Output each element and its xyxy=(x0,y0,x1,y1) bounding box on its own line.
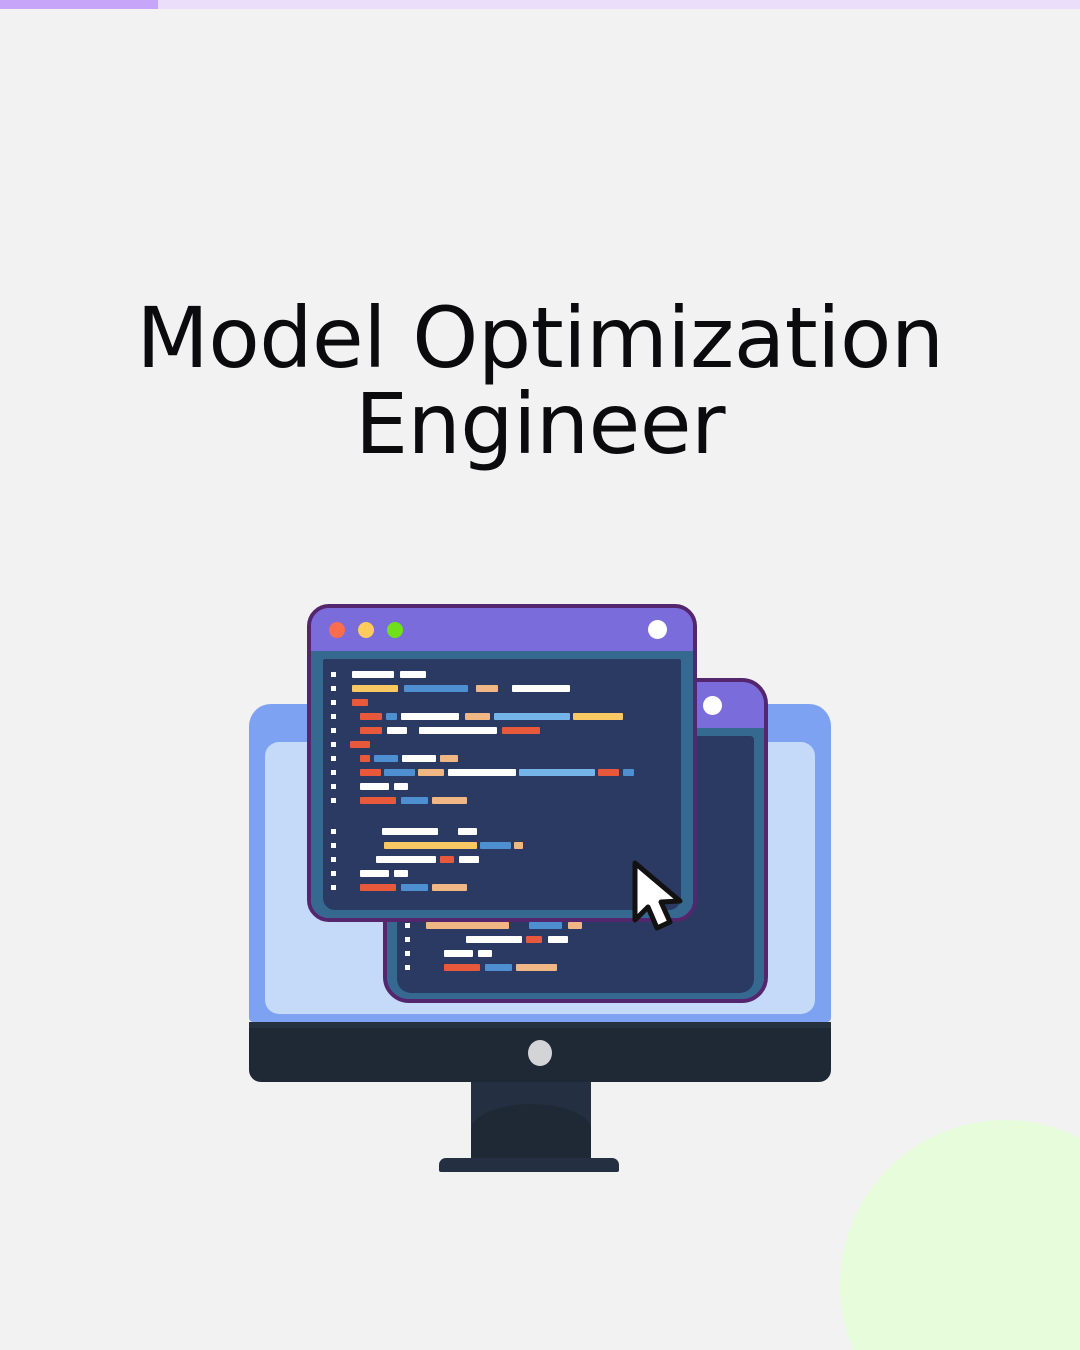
gutter-marker-icon xyxy=(331,784,336,789)
gutter-marker-icon xyxy=(331,857,336,862)
code-token xyxy=(350,741,370,748)
gutter-marker-icon xyxy=(331,686,336,691)
progress-bar-fill xyxy=(0,0,158,9)
code-token xyxy=(352,699,368,706)
code-line xyxy=(323,725,681,736)
code-line xyxy=(323,840,681,851)
menu-dot-icon[interactable] xyxy=(648,620,667,639)
code-token xyxy=(444,964,480,971)
code-line xyxy=(397,948,754,959)
code-gap xyxy=(438,831,458,832)
code-token xyxy=(458,828,477,835)
coding-illustration xyxy=(249,604,831,1166)
code-gap xyxy=(340,730,360,731)
gutter-marker-icon xyxy=(331,843,336,848)
minimize-dot-icon[interactable] xyxy=(358,622,374,638)
code-gap xyxy=(340,845,384,846)
code-token xyxy=(360,755,370,762)
code-token xyxy=(401,713,459,720)
code-gap xyxy=(340,688,352,689)
code-token xyxy=(360,727,382,734)
code-token xyxy=(384,842,477,849)
progress-bar-track xyxy=(0,0,1080,9)
code-gap xyxy=(340,800,360,801)
code-token xyxy=(459,856,479,863)
code-line xyxy=(323,753,681,764)
code-token xyxy=(376,856,436,863)
mouse-pointer-icon xyxy=(630,860,692,932)
code-gap xyxy=(340,758,360,759)
code-token xyxy=(384,769,415,776)
gutter-marker-icon xyxy=(405,965,410,970)
code-token xyxy=(519,769,595,776)
code-gap xyxy=(468,688,476,689)
monitor-stand-neck xyxy=(471,1082,591,1164)
code-gap xyxy=(498,688,512,689)
monitor-chin xyxy=(249,1022,831,1082)
code-token xyxy=(432,884,467,891)
code-gap xyxy=(414,967,444,968)
code-gap xyxy=(340,772,360,773)
close-dot-icon[interactable] xyxy=(329,622,345,638)
code-token xyxy=(432,797,467,804)
code-token xyxy=(494,713,570,720)
code-lines-front xyxy=(323,669,681,910)
code-token xyxy=(360,870,389,877)
code-gap xyxy=(509,925,529,926)
code-token xyxy=(360,884,396,891)
code-token xyxy=(386,713,397,720)
code-line xyxy=(397,962,754,973)
code-line xyxy=(323,781,681,792)
gutter-marker-icon xyxy=(331,672,336,677)
code-token xyxy=(480,842,511,849)
code-gap xyxy=(340,674,352,675)
code-line xyxy=(323,711,681,722)
code-token xyxy=(426,922,509,929)
code-token xyxy=(374,755,398,762)
code-line xyxy=(323,767,681,778)
code-line-blank xyxy=(323,809,681,823)
monitor-stand-base xyxy=(439,1158,619,1172)
code-token xyxy=(573,713,623,720)
code-token xyxy=(440,856,454,863)
decorative-green-circle xyxy=(840,1120,1080,1350)
code-token xyxy=(400,671,426,678)
code-gap xyxy=(414,953,444,954)
code-gap xyxy=(414,939,466,940)
code-token xyxy=(476,685,498,692)
code-gap xyxy=(340,744,350,745)
code-line xyxy=(323,739,681,750)
code-line xyxy=(397,934,754,945)
code-token xyxy=(419,727,497,734)
code-gap xyxy=(340,786,360,787)
code-gap xyxy=(340,859,376,860)
code-token xyxy=(478,950,492,957)
code-gap xyxy=(340,831,382,832)
maximize-dot-icon[interactable] xyxy=(387,622,403,638)
code-token xyxy=(401,884,428,891)
code-token xyxy=(448,769,516,776)
page-title-container: Model Optimization Engineer xyxy=(0,296,1080,467)
monitor-chin-highlight xyxy=(249,1022,831,1028)
monitor-camera-icon xyxy=(528,1040,552,1066)
gutter-marker-icon xyxy=(331,871,336,876)
code-token xyxy=(394,870,408,877)
code-token xyxy=(529,922,562,929)
code-token xyxy=(516,964,557,971)
code-token xyxy=(402,755,436,762)
code-token xyxy=(360,769,381,776)
code-token xyxy=(526,936,542,943)
code-token xyxy=(598,769,619,776)
code-gap xyxy=(340,716,360,717)
code-token xyxy=(352,685,398,692)
code-line xyxy=(323,882,681,893)
code-token xyxy=(394,783,408,790)
code-token xyxy=(548,936,568,943)
monitor-stand-shadow xyxy=(471,1104,591,1164)
gutter-marker-icon xyxy=(405,951,410,956)
code-token xyxy=(360,783,389,790)
code-line xyxy=(323,854,681,865)
gutter-marker-icon xyxy=(405,937,410,942)
gutter-marker-icon xyxy=(405,923,410,928)
code-gap xyxy=(340,873,360,874)
code-token xyxy=(444,950,473,957)
gutter-marker-icon xyxy=(331,770,336,775)
code-line xyxy=(323,683,681,694)
code-line xyxy=(323,795,681,806)
gutter-marker-icon xyxy=(331,756,336,761)
code-token xyxy=(360,797,396,804)
gutter-marker-icon xyxy=(331,714,336,719)
code-window-front-titlebar[interactable] xyxy=(311,608,693,651)
menu-dot-icon[interactable] xyxy=(703,696,722,715)
code-token xyxy=(382,828,438,835)
code-token xyxy=(502,727,540,734)
code-token xyxy=(401,797,428,804)
code-gap xyxy=(340,702,352,703)
code-line xyxy=(323,826,681,837)
gutter-marker-icon xyxy=(331,829,336,834)
code-token xyxy=(418,769,444,776)
code-token xyxy=(512,685,570,692)
gutter-marker-icon xyxy=(331,885,336,890)
code-token xyxy=(485,964,512,971)
code-token xyxy=(623,769,634,776)
code-token xyxy=(360,713,382,720)
code-gap xyxy=(414,925,426,926)
code-token xyxy=(387,727,407,734)
gutter-marker-icon xyxy=(331,728,336,733)
gutter-marker-icon xyxy=(331,798,336,803)
code-token xyxy=(466,936,522,943)
code-token xyxy=(440,755,458,762)
gutter-marker-icon xyxy=(331,700,336,705)
code-token xyxy=(568,922,582,929)
code-line xyxy=(323,669,681,680)
gutter-marker-icon xyxy=(331,742,336,747)
code-token xyxy=(404,685,468,692)
code-line xyxy=(323,868,681,879)
code-editor-front[interactable] xyxy=(323,659,681,910)
code-token xyxy=(465,713,490,720)
code-line xyxy=(323,697,681,708)
page-title: Model Optimization Engineer xyxy=(0,296,1080,467)
code-token xyxy=(352,671,394,678)
code-token xyxy=(514,842,523,849)
code-gap xyxy=(340,887,360,888)
code-gap xyxy=(407,730,419,731)
